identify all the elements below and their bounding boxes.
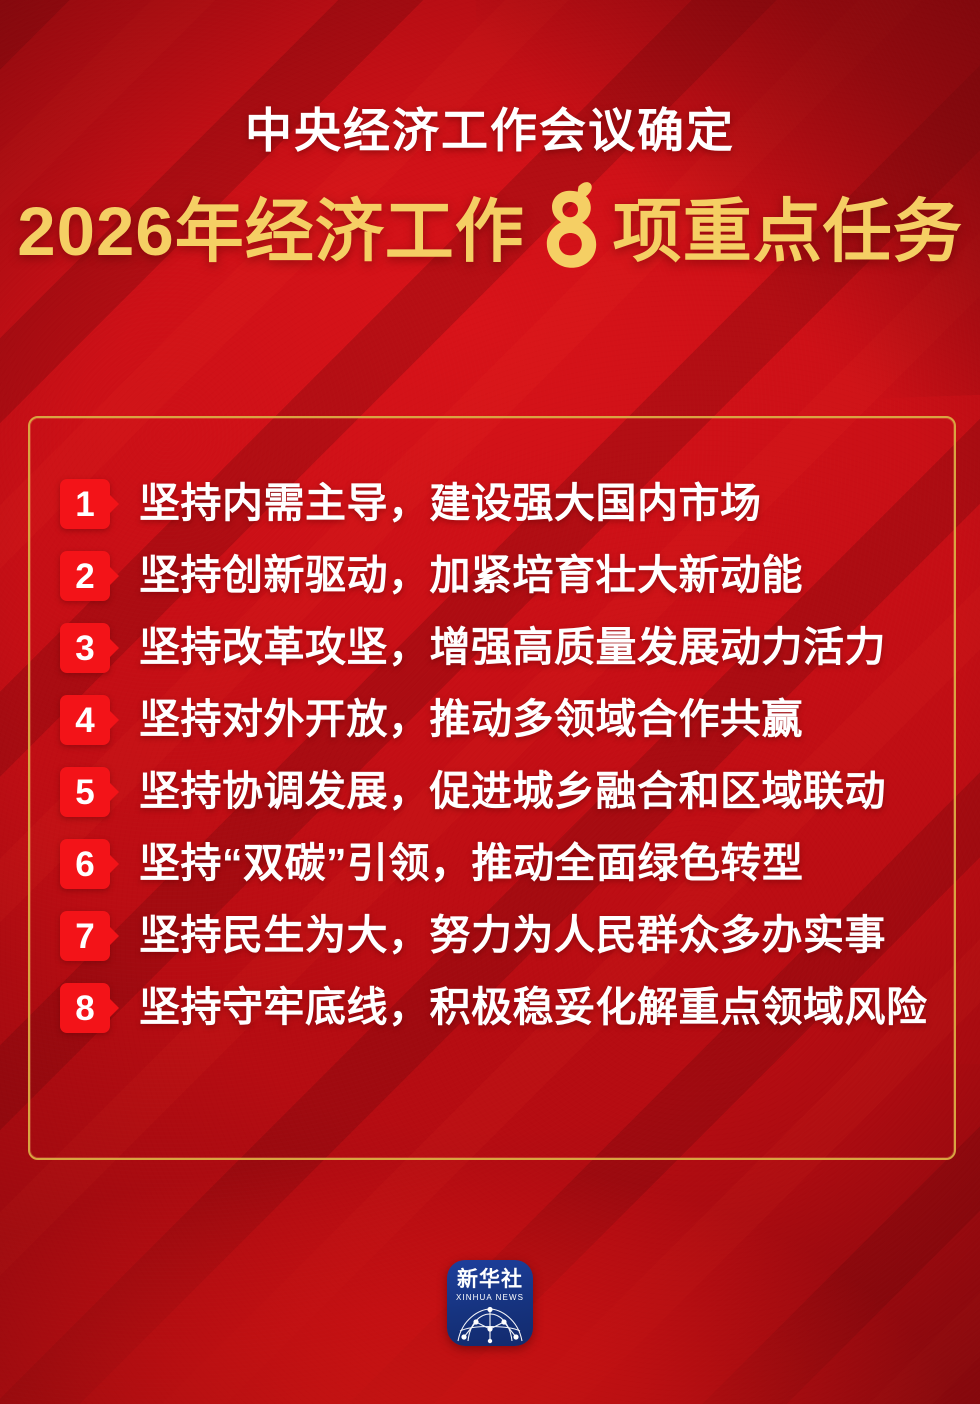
task-text-label: 坚持“双碳”引领，推动全面绿色转型: [139, 841, 804, 886]
logo-english-text: XINHUA NEWS: [456, 1294, 524, 1302]
task-text-label: 坚持协调发展，促进城乡融合和区域联动: [139, 769, 886, 814]
task-number-label: 1: [60, 479, 110, 529]
poster-footer: 新华社 XINHUA NEWS: [0, 1260, 980, 1346]
task-number-badge: 6: [60, 839, 110, 889]
eyebrow-text: 中央经济工作会议确定: [0, 104, 980, 158]
headline-segment-after: 项重点任务: [613, 196, 963, 268]
task-number-badge: 4: [60, 695, 110, 745]
task-number-badge: 5: [60, 767, 110, 817]
task-row: 6坚持“双碳”引领，推动全面绿色转型: [60, 828, 940, 900]
task-number-label: 7: [60, 911, 110, 961]
task-number-label: 8: [60, 983, 110, 1033]
task-text-label: 坚持民生为大，努力为人民群众多办实事: [139, 913, 886, 958]
task-row: 7坚持民生为大，努力为人民群众多办实事: [60, 900, 940, 972]
headline-segment-before: 2026年经济工作: [17, 196, 525, 268]
task-number-label: 4: [60, 695, 110, 745]
task-number-badge: 7: [60, 911, 110, 961]
xinhua-news-logo: 新华社 XINHUA NEWS: [447, 1260, 533, 1346]
task-row: 4坚持对外开放，推动多领域合作共赢: [60, 684, 940, 756]
network-globe-icon: [454, 1305, 526, 1346]
task-number-label: 6: [60, 839, 110, 889]
task-text-label: 坚持守牢底线，积极稳妥化解重点领域风险: [139, 985, 928, 1030]
task-list: 1坚持内需主导，建设强大国内市场2坚持创新驱动，加紧培育壮大新动能3坚持改革攻坚…: [60, 468, 940, 1044]
page-title: 2026年经济工作 项重点任务: [0, 180, 980, 284]
task-number-label: 2: [60, 551, 110, 601]
task-text-label: 坚持改革攻坚，增强高质量发展动力活力: [139, 625, 886, 670]
logo-chinese-text: 新华社: [457, 1269, 523, 1290]
task-number-badge: 8: [60, 983, 110, 1033]
task-number-label: 3: [60, 623, 110, 673]
task-text-label: 坚持内需主导，建设强大国内市场: [139, 481, 762, 526]
infographic-poster: 中央经济工作会议确定 2026年经济工作 项重点任务 1坚持内需主导，建设强大国…: [0, 0, 980, 1404]
task-row: 8坚持守牢底线，积极稳妥化解重点领域风险: [60, 972, 940, 1044]
task-row: 5坚持协调发展，促进城乡融合和区域联动: [60, 756, 940, 828]
task-row: 3坚持改革攻坚，增强高质量发展动力活力: [60, 612, 940, 684]
task-text-label: 坚持创新驱动，加紧培育壮大新动能: [139, 553, 803, 598]
task-number-badge: 2: [60, 551, 110, 601]
task-row: 1坚持内需主导，建设强大国内市场: [60, 468, 940, 540]
headline-number-eight-glyph: [531, 180, 607, 284]
task-number-badge: 1: [60, 479, 110, 529]
task-text-label: 坚持对外开放，推动多领域合作共赢: [139, 697, 803, 742]
poster-header: 中央经济工作会议确定 2026年经济工作 项重点任务: [0, 104, 980, 284]
task-row: 2坚持创新驱动，加紧培育壮大新动能: [60, 540, 940, 612]
task-number-label: 5: [60, 767, 110, 817]
task-number-badge: 3: [60, 623, 110, 673]
